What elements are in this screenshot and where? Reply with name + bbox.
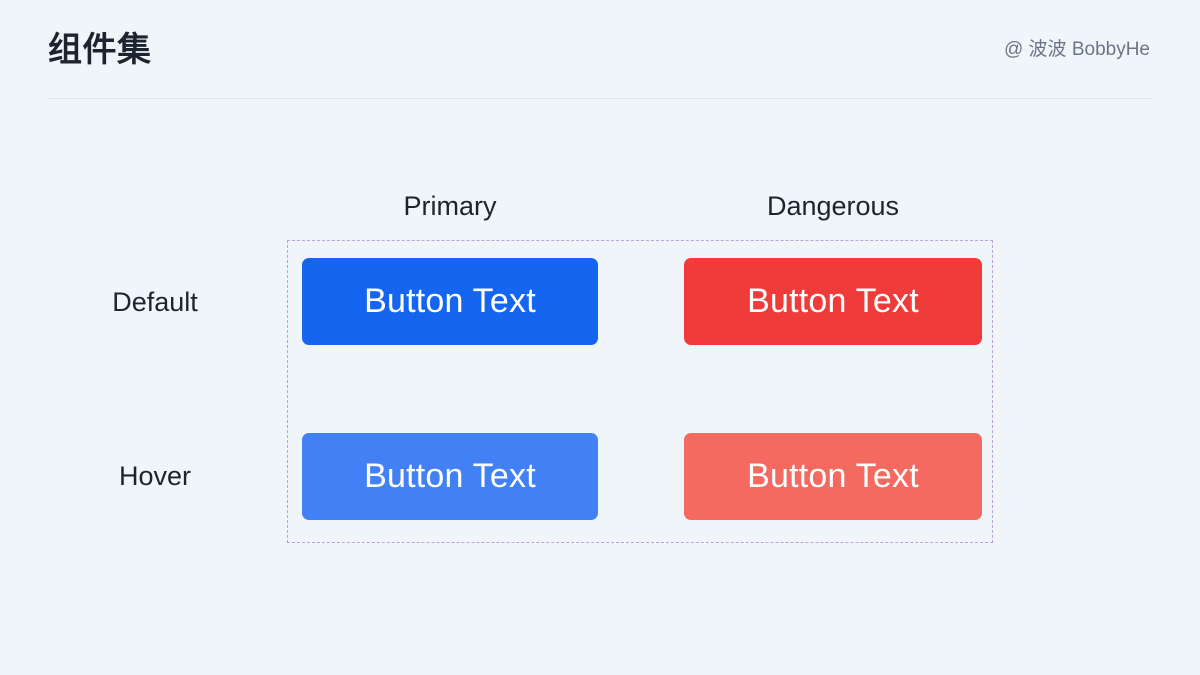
button-dangerous-hover[interactable]: Button Text bbox=[684, 433, 982, 520]
column-header-dangerous: Dangerous bbox=[684, 188, 982, 224]
component-matrix: Primary Dangerous Default Hover Button T… bbox=[0, 0, 1200, 675]
button-primary-hover[interactable]: Button Text bbox=[302, 433, 598, 520]
button-dangerous-default[interactable]: Button Text bbox=[684, 258, 982, 345]
row-label-hover: Hover bbox=[60, 458, 250, 494]
row-label-default: Default bbox=[60, 284, 250, 320]
button-primary-default[interactable]: Button Text bbox=[302, 258, 598, 345]
column-header-primary: Primary bbox=[302, 188, 598, 224]
